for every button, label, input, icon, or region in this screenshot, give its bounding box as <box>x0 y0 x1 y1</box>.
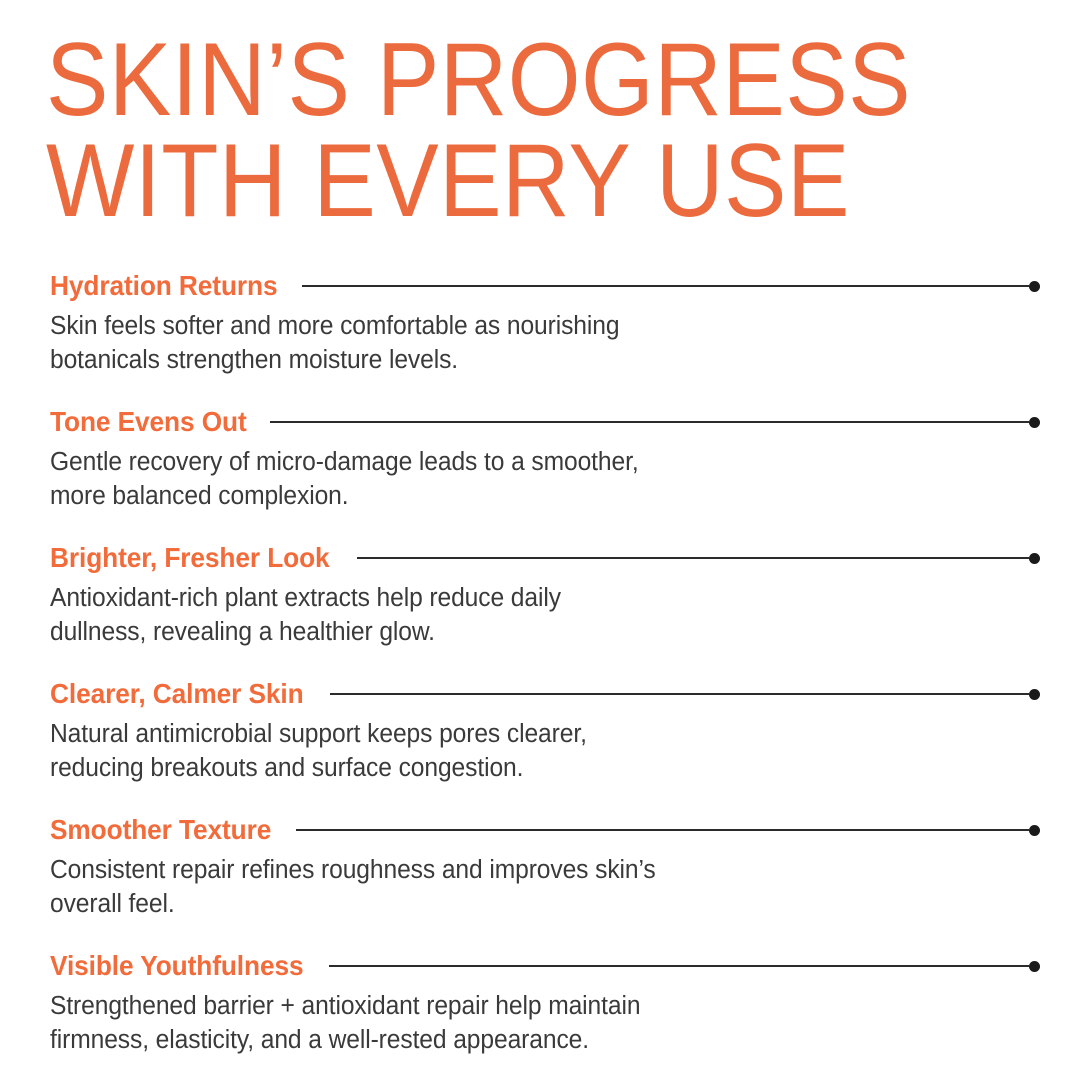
list-item: Visible Youthfulness Strengthened barrie… <box>50 948 1040 1074</box>
connector-rule <box>296 829 1040 831</box>
list-item: Smoother Texture Consistent repair refin… <box>50 812 1040 948</box>
benefit-description: Skin feels softer and more comfortable a… <box>50 310 783 377</box>
rule-line <box>330 693 1029 695</box>
benefit-header: Visible Youthfulness <box>50 948 1040 984</box>
benefit-header: Hydration Returns <box>50 268 1040 304</box>
benefit-description: Antioxidant-rich plant extracts help red… <box>50 582 783 649</box>
benefit-header: Smoother Texture <box>50 812 1040 848</box>
list-item: Tone Evens Out Gentle recovery of micro-… <box>50 404 1040 540</box>
list-item: Clearer, Calmer Skin Natural antimicrobi… <box>50 676 1040 812</box>
endpoint-dot-icon <box>1029 689 1040 700</box>
endpoint-dot-icon <box>1029 553 1040 564</box>
page-title: SKIN’S PROGRESS WITH EVERY USE <box>46 30 1046 232</box>
endpoint-dot-icon <box>1029 825 1040 836</box>
connector-rule <box>270 421 1040 423</box>
benefit-title: Smoother Texture <box>50 816 271 844</box>
connector-rule <box>329 965 1040 967</box>
list-item: Hydration Returns Skin feels softer and … <box>50 268 1040 404</box>
endpoint-dot-icon <box>1029 417 1040 428</box>
connector-rule <box>302 285 1040 287</box>
benefit-title: Brighter, Fresher Look <box>50 544 330 572</box>
benefit-title: Clearer, Calmer Skin <box>50 680 304 708</box>
benefit-header: Brighter, Fresher Look <box>50 540 1040 576</box>
benefit-header: Tone Evens Out <box>50 404 1040 440</box>
endpoint-dot-icon <box>1029 961 1040 972</box>
benefit-header: Clearer, Calmer Skin <box>50 676 1040 712</box>
page-title-line-2: WITH EVERY USE <box>46 131 946 232</box>
infographic-poster: SKIN’S PROGRESS WITH EVERY USE Hydration… <box>0 0 1078 1074</box>
rule-line <box>302 285 1029 287</box>
connector-rule <box>330 693 1040 695</box>
rule-line <box>329 965 1029 967</box>
benefit-description: Natural antimicrobial support keeps pore… <box>50 718 783 785</box>
list-item: Brighter, Fresher Look Antioxidant-rich … <box>50 540 1040 676</box>
benefit-title: Hydration Returns <box>50 272 277 300</box>
endpoint-dot-icon <box>1029 281 1040 292</box>
benefit-list: Hydration Returns Skin feels softer and … <box>50 268 1040 1074</box>
benefit-description: Strengthened barrier + antioxidant repai… <box>50 990 783 1057</box>
benefit-title: Visible Youthfulness <box>50 952 303 980</box>
rule-line <box>296 829 1029 831</box>
rule-line <box>270 421 1029 423</box>
benefit-title: Tone Evens Out <box>50 408 247 436</box>
page-title-line-1: SKIN’S PROGRESS <box>46 30 946 131</box>
benefit-description: Consistent repair refines roughness and … <box>50 854 783 921</box>
connector-rule <box>357 557 1040 559</box>
benefit-description: Gentle recovery of micro-damage leads to… <box>50 446 783 513</box>
rule-line <box>357 557 1029 559</box>
